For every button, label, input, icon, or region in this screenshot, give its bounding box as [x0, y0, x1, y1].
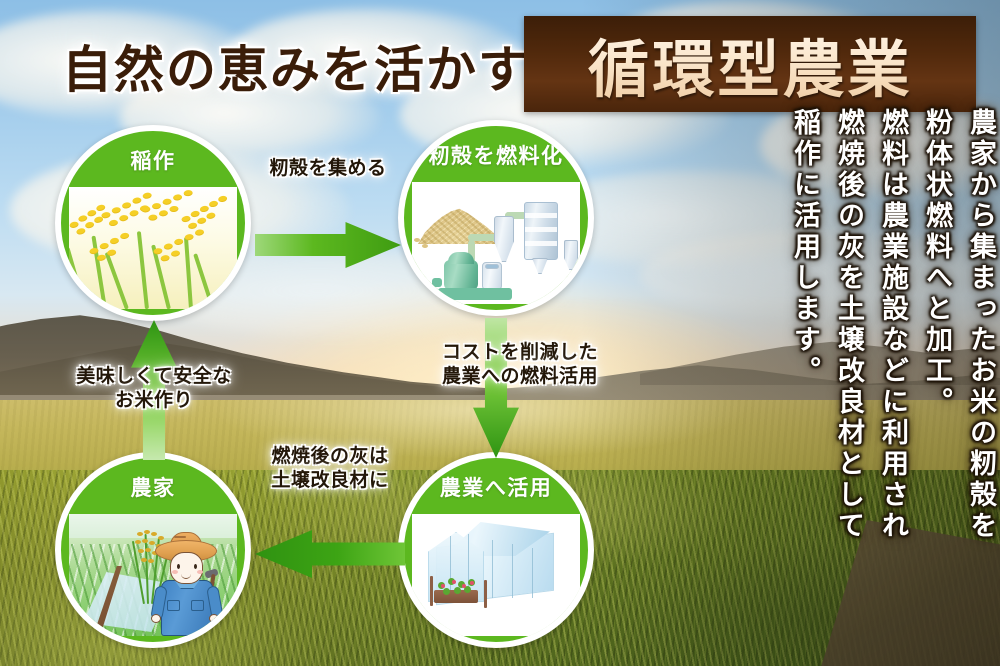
title-bar: 自然の恵みを活かす 循環型農業 [0, 8, 1000, 106]
husk-fuel-machinery-illustration [412, 182, 580, 304]
cycle-node-fuel[interactable]: 籾殻を燃料化 [398, 120, 594, 316]
vertical-text-column-4: 燃焼後の灰を土壌改良材として [818, 108, 862, 656]
vertical-text-column-5: 稲作に活用します。 [774, 108, 818, 656]
cycle-node-rice-label: 稲作 [61, 145, 245, 175]
vertical-text-column-1: 農家から集まったお米の籾殻を [950, 108, 994, 656]
title-badge-text: 循環型農業 [587, 19, 912, 109]
arrow-caption-cost-line1: コストを削減した [415, 341, 625, 365]
farmer-illustration [69, 514, 237, 636]
cycle-node-agri-use-label: 農業へ活用 [404, 472, 588, 502]
arrow-caption-cost-line2: 農業への燃料活用 [415, 365, 625, 389]
cycle-node-farmer[interactable]: 農家 [55, 452, 251, 648]
title-badge: 循環型農業 [524, 16, 976, 112]
rice-field-illustration [69, 187, 237, 309]
arrow-caption-ash-line2: 土壌改良材に [250, 469, 410, 493]
arrow-caption-ash-line1: 燃焼後の灰は [250, 445, 410, 469]
arrow-caption-collect-line1: 籾殻を集める [258, 157, 398, 181]
arrow-caption-cost: コストを削減した 農業への燃料活用 [415, 341, 625, 390]
arrow-caption-rice-line2: お米作り [56, 389, 252, 413]
vertical-description-block: 農家から集まったお米の籾殻を 粉体状燃料へと加工。 燃料は農業施設などに利用され… [774, 108, 994, 656]
vertical-text-column-3: 燃料は農業施設などに利用され [862, 108, 906, 656]
cycle-node-farmer-label: 農家 [61, 472, 245, 502]
greenhouse-illustration [412, 514, 580, 636]
cycle-node-fuel-label: 籾殻を燃料化 [404, 140, 588, 170]
arrow-caption-rice: 美味しくて安全な お米作り [56, 365, 252, 414]
cycle-node-rice[interactable]: 稲作 [55, 125, 251, 321]
arrow-caption-ash: 燃焼後の灰は 土壌改良材に [250, 445, 410, 494]
vertical-text-column-2: 粉体状燃料へと加工。 [906, 108, 950, 656]
title-lead-text: 自然の恵みを活かす [62, 30, 530, 102]
arrow-caption-collect: 籾殻を集める [258, 157, 398, 181]
arrow-caption-rice-line1: 美味しくて安全な [56, 365, 252, 389]
cycle-node-agri-use[interactable]: 農業へ活用 [398, 452, 594, 648]
